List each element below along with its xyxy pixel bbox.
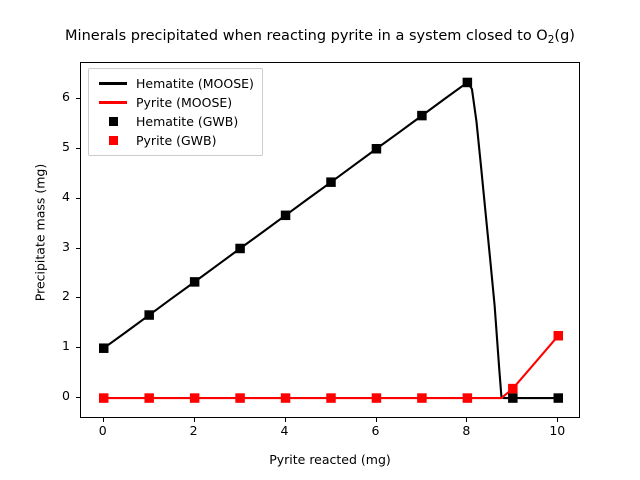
data-point-marker	[554, 331, 564, 341]
legend-square-icon	[109, 117, 118, 126]
x-tick-label: 6	[356, 423, 396, 438]
data-point-marker	[190, 277, 200, 287]
data-point-marker	[326, 393, 336, 403]
legend-label: Hematite (MOOSE)	[131, 76, 254, 91]
x-tick-mark	[103, 418, 104, 422]
y-tick-mark	[76, 297, 80, 298]
y-tick-mark	[76, 98, 80, 99]
data-point-marker	[281, 393, 291, 403]
data-point-marker	[235, 244, 245, 254]
legend-swatch	[95, 136, 131, 145]
x-tick-mark	[376, 418, 377, 422]
y-tick-mark	[76, 397, 80, 398]
legend-label: Hematite (GWB)	[131, 114, 238, 129]
legend-item[interactable]: Hematite (GWB)	[95, 112, 254, 131]
x-tick-mark	[557, 418, 558, 422]
x-tick-label: 2	[174, 423, 214, 438]
data-point-marker	[554, 393, 564, 403]
chart-title-main: Minerals precipitated when reacting pyri…	[65, 28, 548, 44]
chart-title-subscript: 2	[548, 34, 555, 46]
legend-item[interactable]: Pyrite (MOOSE)	[95, 93, 254, 112]
data-point-marker	[508, 384, 518, 394]
data-point-marker	[144, 393, 154, 403]
x-tick-label: 4	[265, 423, 305, 438]
chart-legend: Hematite (MOOSE)Pyrite (MOOSE)Hematite (…	[88, 68, 263, 156]
legend-square-icon	[109, 136, 118, 145]
legend-label: Pyrite (MOOSE)	[131, 95, 232, 110]
data-point-marker	[235, 393, 245, 403]
y-axis-label: Precipitate mass (mg)	[33, 103, 48, 363]
legend-line-icon	[99, 101, 127, 103]
series-line	[104, 336, 559, 398]
legend-swatch	[95, 117, 131, 126]
data-point-marker	[417, 393, 427, 403]
y-tick-mark	[76, 347, 80, 348]
y-tick-label: 0	[30, 388, 70, 403]
data-point-marker	[417, 111, 427, 121]
data-point-marker	[144, 310, 154, 320]
data-point-marker	[281, 211, 291, 221]
data-point-marker	[372, 393, 382, 403]
x-tick-label: 0	[83, 423, 123, 438]
data-point-marker	[508, 393, 518, 403]
data-point-marker	[190, 393, 200, 403]
legend-swatch	[95, 82, 131, 84]
legend-item[interactable]: Pyrite (GWB)	[95, 131, 254, 150]
x-axis-label: Pyrite reacted (mg)	[80, 452, 580, 467]
y-tick-mark	[76, 198, 80, 199]
x-tick-mark	[466, 418, 467, 422]
data-point-marker	[99, 393, 109, 403]
y-tick-mark	[76, 148, 80, 149]
x-tick-label: 10	[537, 423, 577, 438]
x-tick-mark	[194, 418, 195, 422]
legend-line-icon	[99, 82, 127, 84]
legend-swatch	[95, 101, 131, 103]
data-point-marker	[372, 144, 382, 154]
legend-label: Pyrite (GWB)	[131, 133, 217, 148]
data-point-marker	[463, 393, 473, 403]
y-tick-mark	[76, 248, 80, 249]
x-tick-label: 8	[446, 423, 486, 438]
data-point-marker	[463, 78, 473, 88]
chart-title-tail: (g)	[554, 28, 575, 44]
series-markers	[99, 331, 563, 403]
data-point-marker	[99, 343, 109, 353]
chart-title: Minerals precipitated when reacting pyri…	[0, 28, 640, 44]
chart-figure: Minerals precipitated when reacting pyri…	[0, 0, 640, 480]
legend-item[interactable]: Hematite (MOOSE)	[95, 74, 254, 93]
x-tick-mark	[285, 418, 286, 422]
data-point-marker	[326, 177, 336, 187]
